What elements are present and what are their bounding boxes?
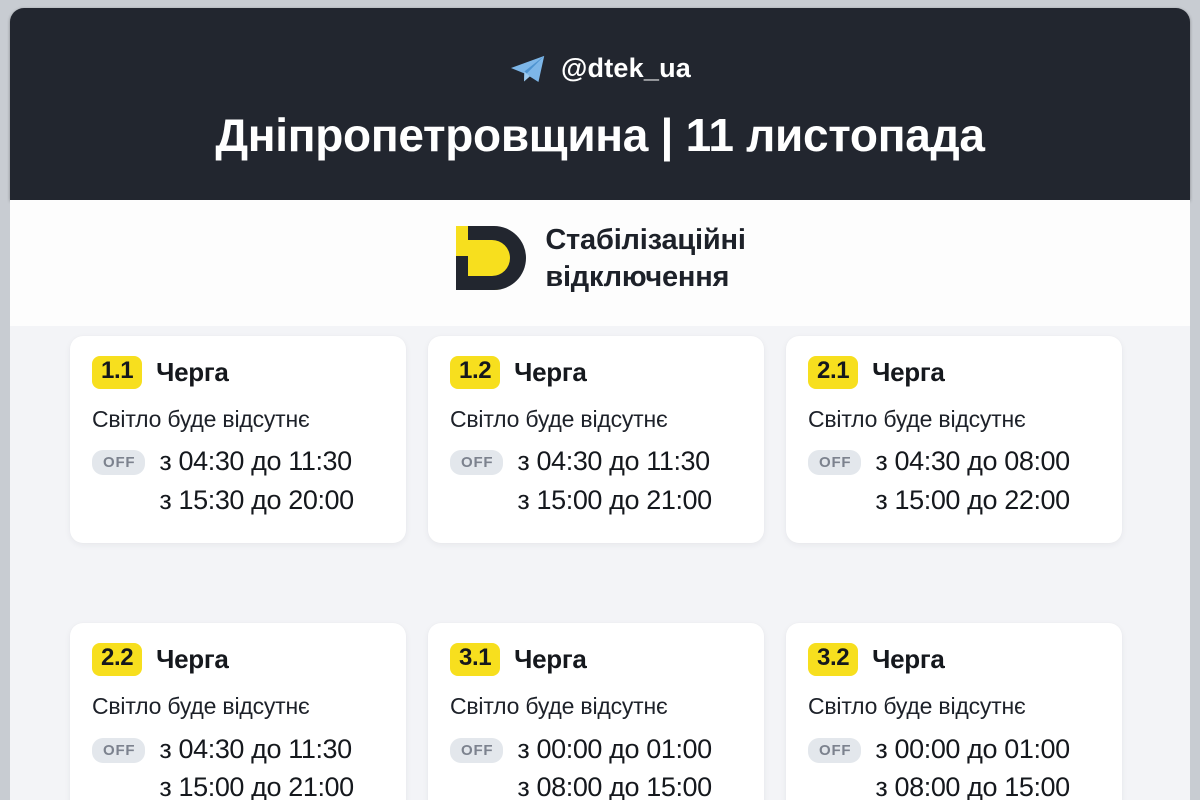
queue-card-header: 2.1 Черга [808, 356, 1100, 389]
queue-time: з 04:30 до 11:30 [159, 442, 353, 480]
queue-times-row: OFF з 04:30 до 11:30 з 15:30 до 20:00 [92, 442, 384, 519]
page-title: Дніпропетровщина | 11 листопада [10, 108, 1190, 162]
queue-card-header: 1.2 Черга [450, 356, 742, 389]
queue-time: з 08:00 до 15:00 [517, 768, 711, 800]
status-badge: OFF [92, 450, 145, 475]
dtek-logo-icon [454, 224, 526, 294]
queue-note: Світло буде відсутнє [92, 406, 384, 434]
queue-note: Світло буде відсутнє [450, 693, 742, 721]
queue-note: Світло буде відсутнє [808, 406, 1100, 434]
queue-time: з 15:00 до 21:00 [159, 768, 353, 800]
queue-number-badge: 1.1 [92, 356, 142, 389]
queue-time: з 15:30 до 20:00 [159, 481, 353, 519]
queue-times-list: з 04:30 до 11:30 з 15:30 до 20:00 [159, 442, 353, 519]
queue-number-badge: 3.1 [450, 643, 500, 676]
queue-times-list: з 04:30 до 08:00 з 15:00 до 22:00 [875, 442, 1069, 519]
telegram-channel-row: @dtek_ua [10, 48, 1190, 88]
queue-times-row: OFF з 00:00 до 01:00 з 08:00 до 15:00 з … [808, 730, 1100, 800]
queue-time: з 08:00 до 15:00 [875, 768, 1069, 800]
queue-number-badge: 2.1 [808, 356, 858, 389]
queue-label: Черга [156, 644, 228, 675]
queue-card[interactable]: 3.2 Черга Світло буде відсутнє OFF з 00:… [786, 623, 1122, 800]
queue-card[interactable]: 3.1 Черга Світло буде відсутнє OFF з 00:… [428, 623, 764, 800]
brand-block: Стабілізаційні відключення [10, 222, 1190, 296]
poster-header: @dtek_ua Дніпропетровщина | 11 листопада [10, 8, 1190, 200]
queue-number-badge: 1.2 [450, 356, 500, 389]
queue-card-header: 1.1 Черга [92, 356, 384, 389]
telegram-handle: @dtek_ua [561, 53, 691, 84]
queue-number-badge: 3.2 [808, 643, 858, 676]
queue-times-list: з 04:30 до 11:30 з 15:00 до 21:00 [159, 730, 353, 800]
queue-time: з 15:00 до 21:00 [517, 481, 711, 519]
queue-note: Світло буде відсутнє [92, 693, 384, 721]
queue-times-list: з 04:30 до 11:30 з 15:00 до 21:00 [517, 442, 711, 519]
queue-times-row: OFF з 04:30 до 11:30 з 15:00 до 21:00 [92, 730, 384, 800]
poster-body: Стабілізаційні відключення 1.1 Черга Сві… [10, 200, 1190, 800]
status-badge: OFF [808, 738, 861, 763]
queue-label: Черга [156, 357, 228, 388]
queue-times-row: OFF з 04:30 до 11:30 з 15:00 до 21:00 [450, 442, 742, 519]
queue-times-list: з 00:00 до 01:00 з 08:00 до 15:00 з 18:3… [875, 730, 1069, 800]
queue-cards-grid: 1.1 Черга Світло буде відсутнє OFF з 04:… [70, 336, 1144, 800]
queue-time: з 04:30 до 08:00 [875, 442, 1069, 480]
queue-time: з 00:00 до 01:00 [875, 730, 1069, 768]
queue-number-badge: 2.2 [92, 643, 142, 676]
queue-card[interactable]: 2.2 Черга Світло буде відсутнє OFF з 04:… [70, 623, 406, 800]
queue-times-row: OFF з 04:30 до 08:00 з 15:00 до 22:00 [808, 442, 1100, 519]
queue-time: з 15:00 до 22:00 [875, 481, 1069, 519]
queue-times-row: OFF з 00:00 до 01:00 з 08:00 до 15:00 з … [450, 730, 742, 800]
queue-card[interactable]: 1.2 Черга Світло буде відсутнє OFF з 04:… [428, 336, 764, 543]
queue-times-list: з 00:00 до 01:00 з 08:00 до 15:00 з 18:3… [517, 730, 711, 800]
queue-note: Світло буде відсутнє [450, 406, 742, 434]
queue-card-header: 3.1 Черга [450, 643, 742, 676]
queue-time: з 04:30 до 11:30 [517, 442, 711, 480]
queue-label: Черга [872, 644, 944, 675]
queue-label: Черга [514, 357, 586, 388]
poster-page: @dtek_ua Дніпропетровщина | 11 листопада… [0, 0, 1200, 800]
telegram-paper-plane-icon [509, 50, 547, 88]
queue-time: з 04:30 до 11:30 [159, 730, 353, 768]
queue-card[interactable]: 2.1 Черга Світло буде відсутнє OFF з 04:… [786, 336, 1122, 543]
queue-time: з 00:00 до 01:00 [517, 730, 711, 768]
queue-card-header: 3.2 Черга [808, 643, 1100, 676]
queue-card-header: 2.2 Черга [92, 643, 384, 676]
status-badge: OFF [450, 738, 503, 763]
queue-label: Черга [514, 644, 586, 675]
queue-label: Черга [872, 357, 944, 388]
status-badge: OFF [808, 450, 861, 475]
status-badge: OFF [450, 450, 503, 475]
queue-card[interactable]: 1.1 Черга Світло буде відсутнє OFF з 04:… [70, 336, 406, 543]
queue-note: Світло буде відсутнє [808, 693, 1100, 721]
status-badge: OFF [92, 738, 145, 763]
brand-title: Стабілізаційні відключення [545, 222, 745, 296]
